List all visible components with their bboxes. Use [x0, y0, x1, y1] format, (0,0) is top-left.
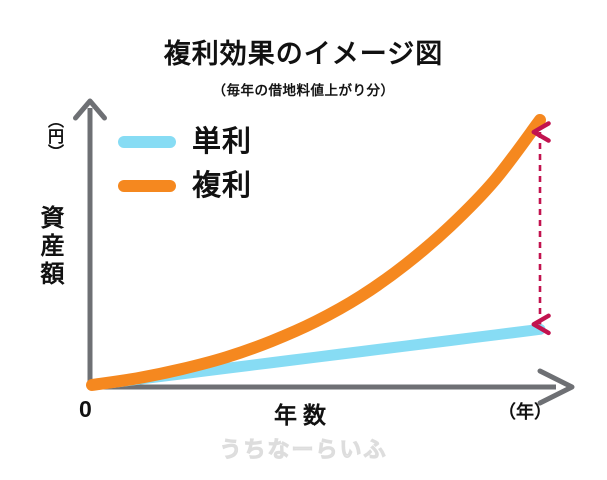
series-line-compound-interest [92, 120, 540, 385]
chart-canvas: 複利効果のイメージ図 （毎年の借地料値上がり分） （円） 資産額 0 年数 （年… [0, 0, 607, 480]
y-axis [76, 101, 105, 387]
plot-area [0, 0, 607, 480]
site-watermark: うちなーらいふ [0, 432, 607, 464]
